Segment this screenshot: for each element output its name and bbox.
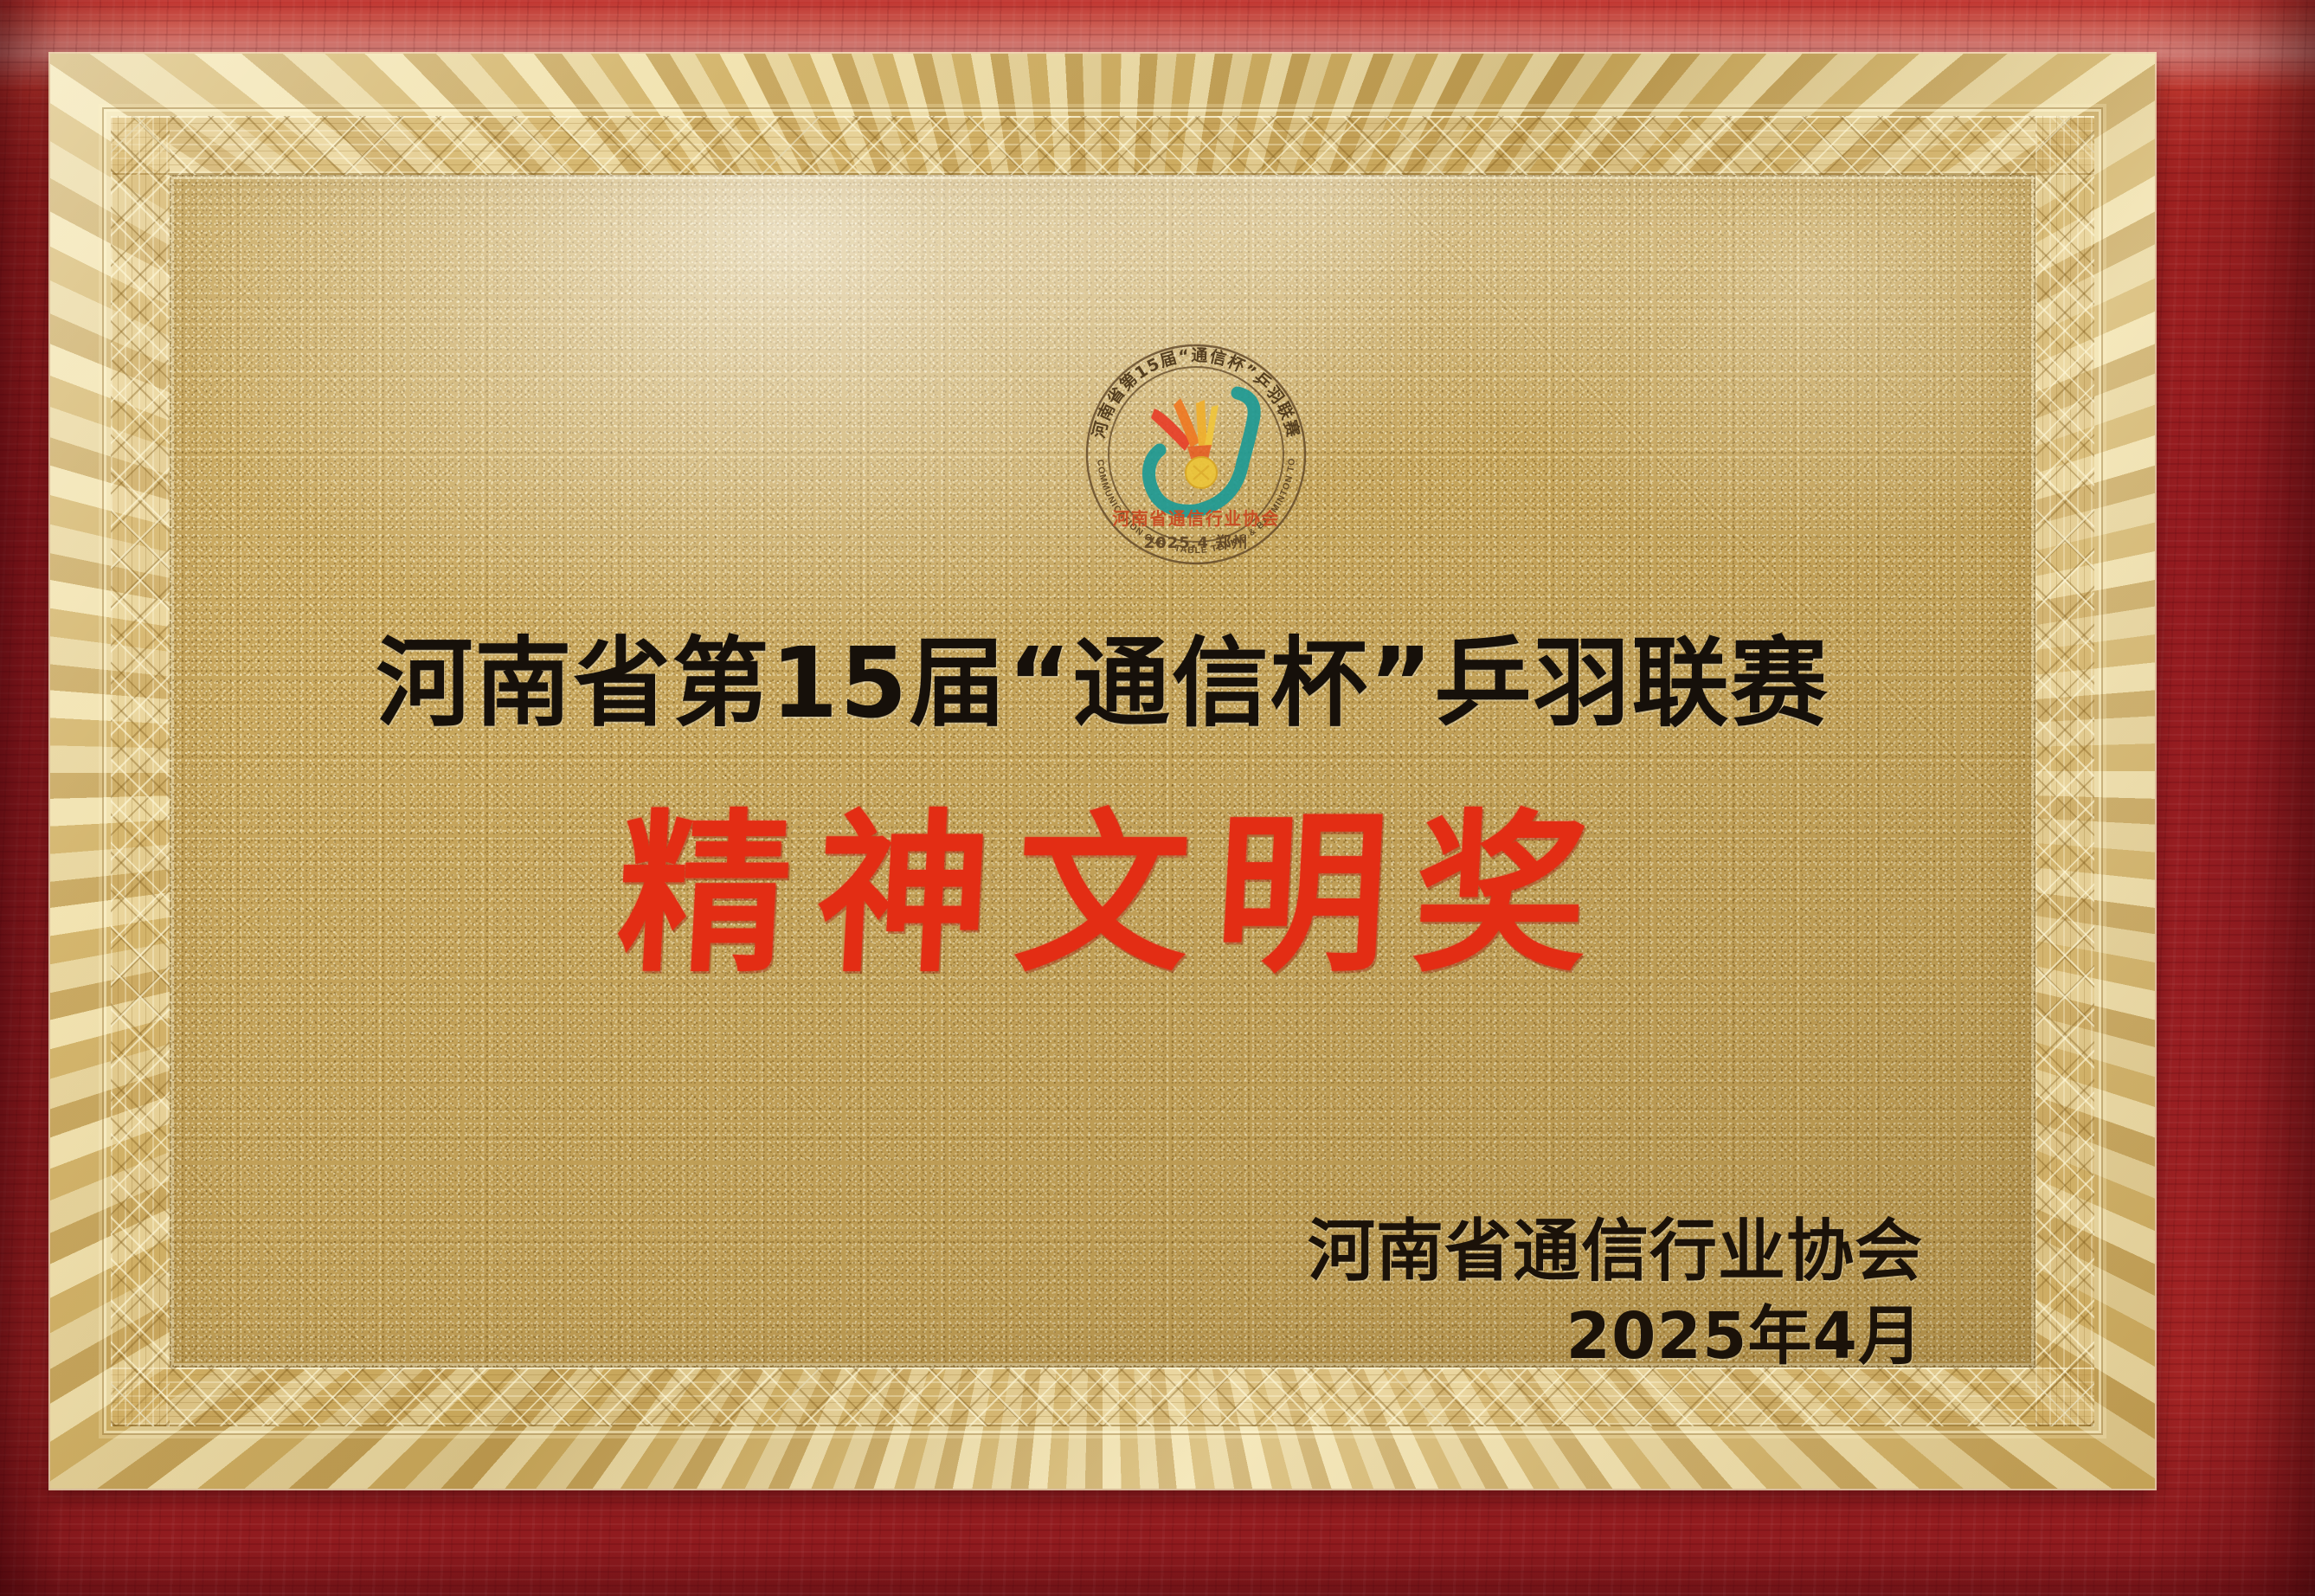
issuing-organization: 河南省通信行业协会	[1308, 1212, 1923, 1291]
plaque-title: 河南省第15届“通信杯”乒羽联赛	[50, 632, 2155, 737]
diamond-pattern	[111, 116, 170, 1426]
tournament-emblem: 河南省第15届“通信杯”乒羽联赛 THE 15TH · COMMUNICATIO…	[1080, 341, 1312, 568]
gold-plate: 河南省第15届“通信杯”乒羽联赛 THE 15TH · COMMUNICATIO…	[50, 54, 2155, 1489]
ornament-band-left	[111, 116, 170, 1426]
svg-text:河南省第15届“通信杯”乒羽联赛: 河南省第15届“通信杯”乒羽联赛	[1090, 346, 1304, 441]
emblem-date-text: 2025.4 郑州	[1144, 533, 1249, 552]
issue-date: 2025年4月	[1308, 1297, 1923, 1377]
diamond-pattern	[2035, 116, 2094, 1426]
signature-block: 河南省通信行业协会 2025年4月	[1308, 1212, 1923, 1377]
award-plaque: 河南省第15届“通信杯”乒羽联赛 THE 15TH · COMMUNICATIO…	[0, 0, 2315, 1596]
shuttlecock-graphic	[1151, 398, 1219, 488]
diamond-pattern	[111, 116, 2094, 175]
ornament-band-top	[111, 116, 2094, 175]
emblem-ring-cn: 河南省第15届“通信杯”乒羽联赛	[1090, 346, 1304, 441]
emblem-org-text: 河南省通信行业协会	[1112, 508, 1280, 529]
ornament-band-right	[2035, 116, 2094, 1426]
award-name: 精神文明奖	[50, 808, 2155, 981]
